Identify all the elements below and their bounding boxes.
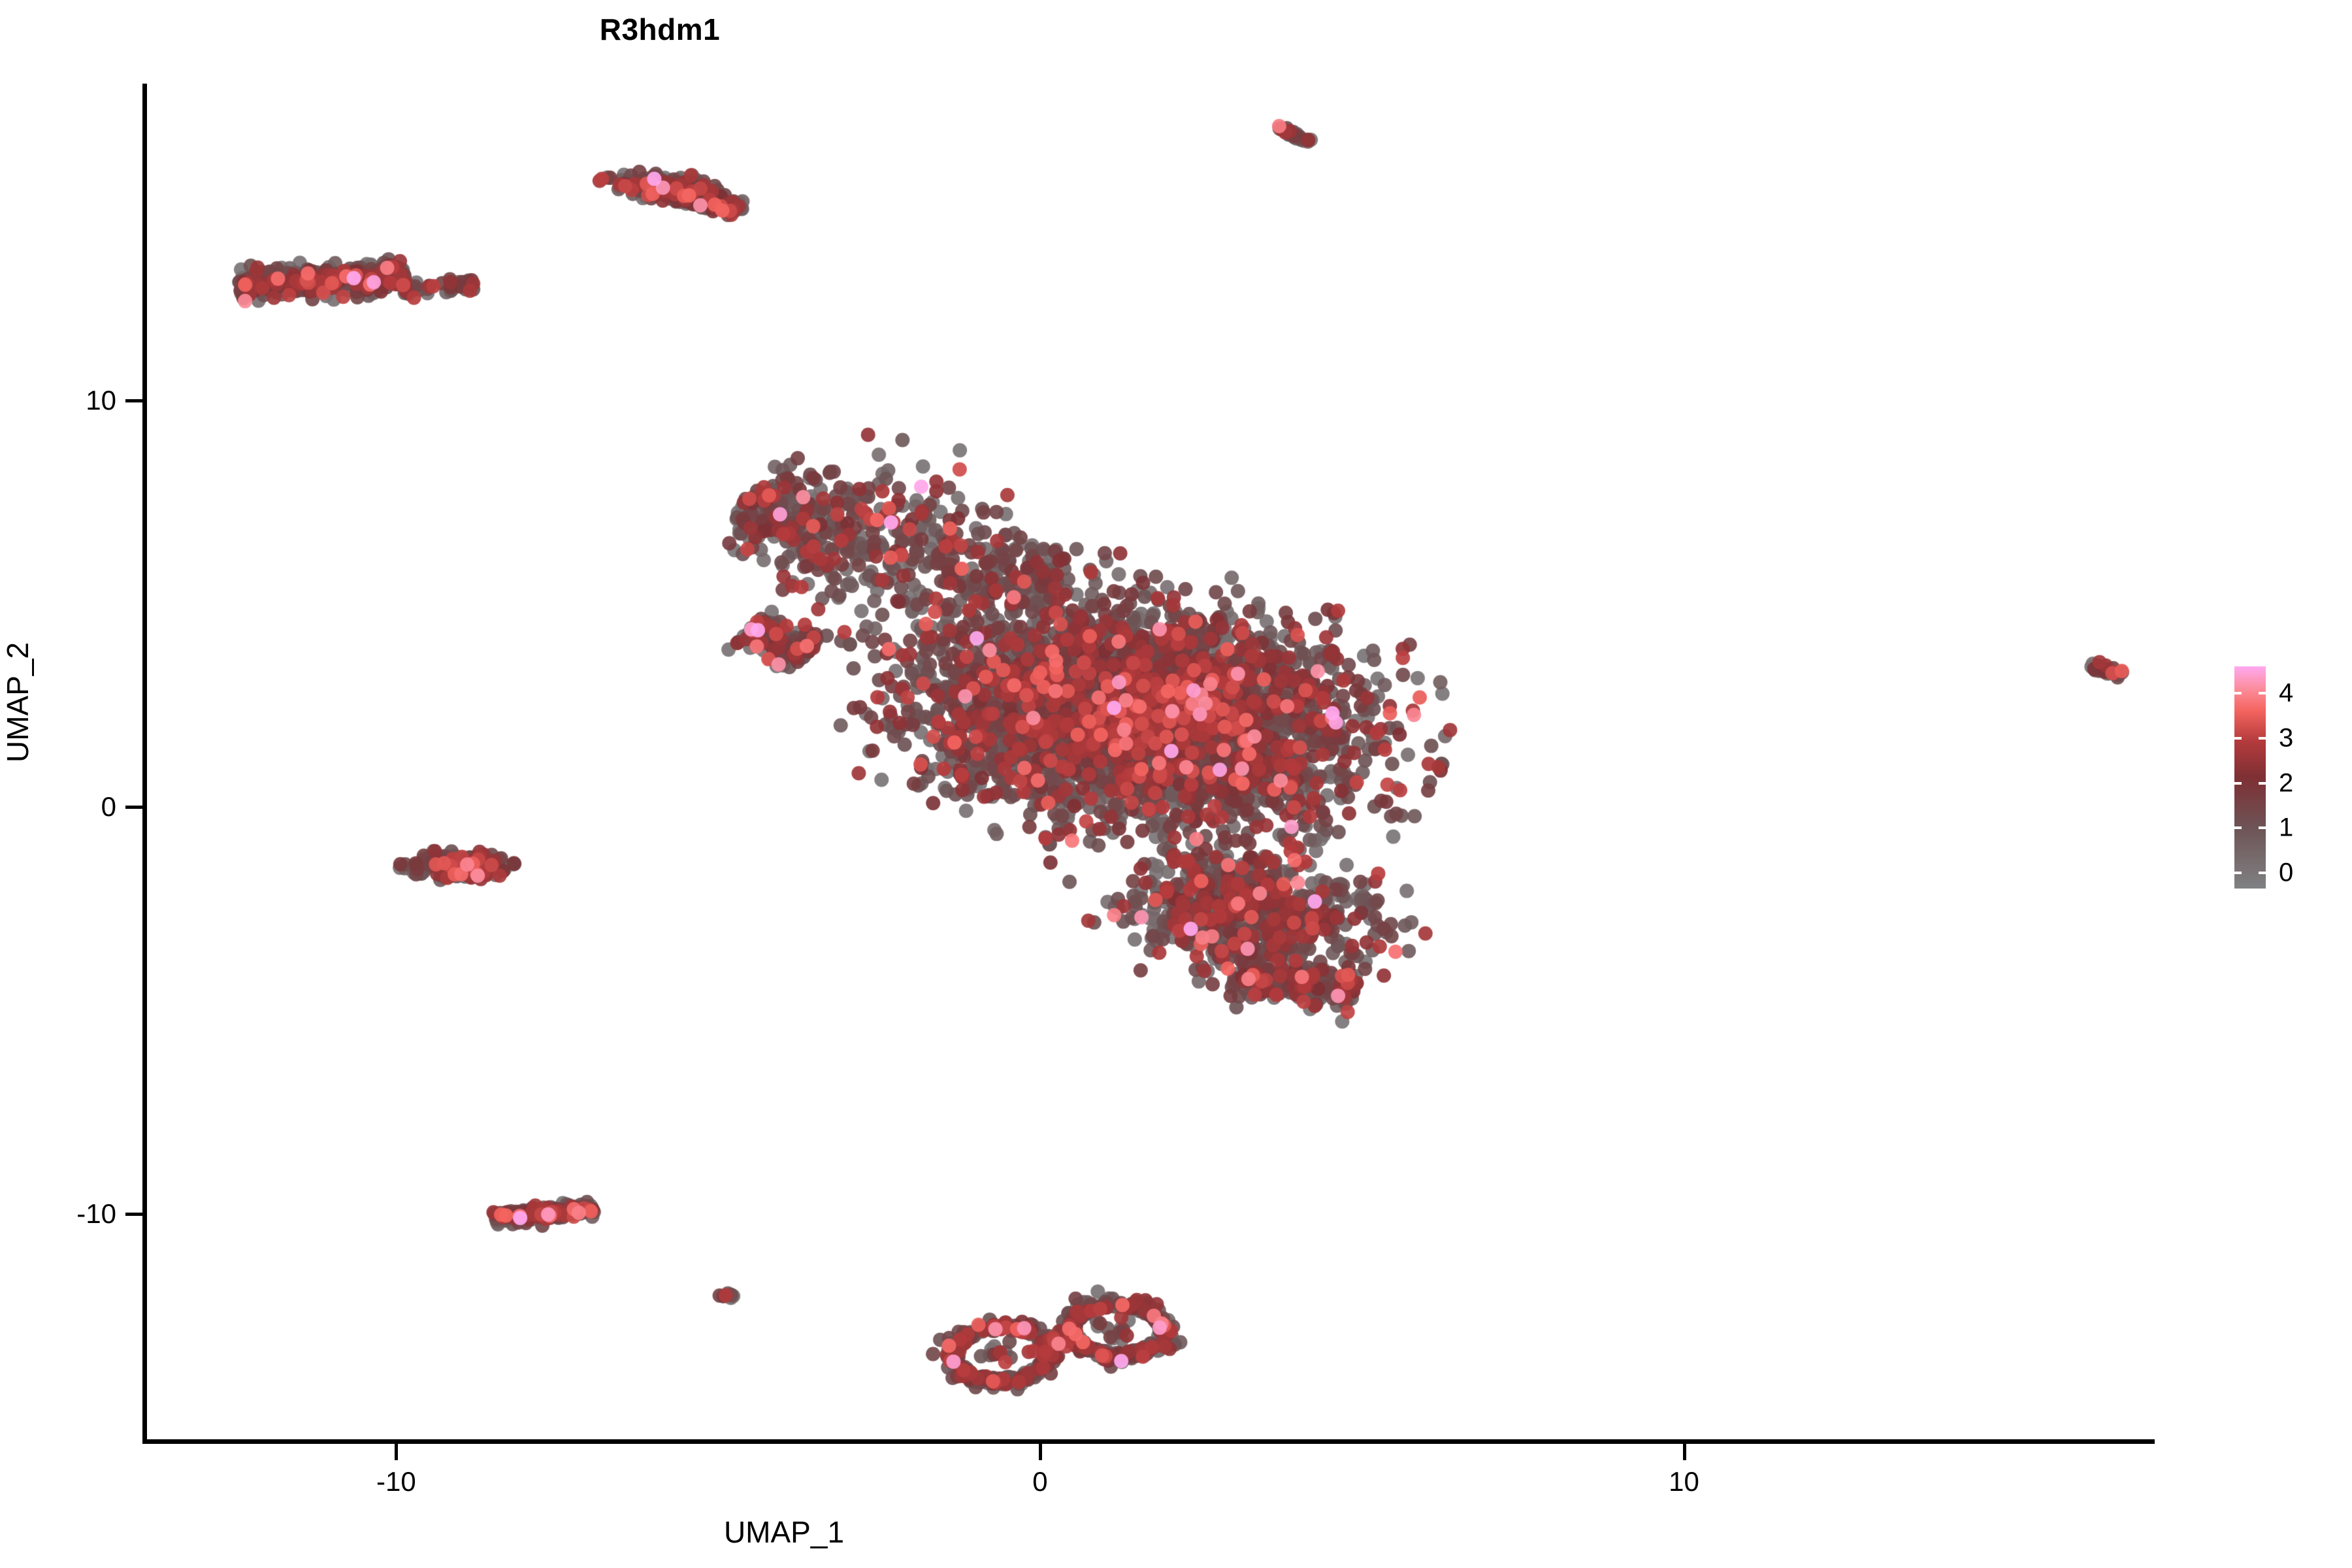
legend-tick-label: 0 <box>2279 858 2293 887</box>
legend-tick-mark <box>2259 872 2266 874</box>
y-tick-label: 10 <box>86 385 116 416</box>
x-tick-label: -10 <box>376 1466 416 1497</box>
y-tick-label: -10 <box>76 1198 116 1230</box>
x-tick-mark <box>1039 1443 1042 1460</box>
x-tick-mark <box>1683 1443 1686 1460</box>
page-title: R3hdm1 <box>0 12 1836 47</box>
feature-plot-root: R3hdm1 -10010 -10010 UMAP_1 UMAP_2 01234 <box>0 0 2352 1568</box>
legend-tick-mark <box>2234 737 2242 740</box>
legend-tick-label: 3 <box>2279 723 2293 753</box>
legend-tick-mark <box>2259 782 2266 785</box>
x-axis-line <box>142 1439 2155 1444</box>
legend-tick-mark <box>2234 872 2242 874</box>
y-tick-label: 0 <box>101 791 116 823</box>
legend-tick-mark <box>2234 782 2242 785</box>
color-legend-bar <box>2234 666 2266 889</box>
x-tick-mark <box>395 1443 398 1460</box>
y-axis-title: UMAP_2 <box>0 642 35 762</box>
legend-tick-mark <box>2259 737 2266 740</box>
color-legend: 01234 <box>2234 666 2339 902</box>
y-tick-mark <box>125 399 142 402</box>
legend-tick-mark <box>2234 692 2242 694</box>
y-axis-line <box>142 84 147 1444</box>
y-tick-mark <box>125 806 142 809</box>
scatter-canvas <box>145 84 2154 1441</box>
legend-tick-label: 4 <box>2279 679 2293 708</box>
scatter-panel <box>145 84 2154 1441</box>
legend-tick-label: 2 <box>2279 768 2293 798</box>
x-tick-label: 10 <box>1669 1466 1699 1497</box>
legend-tick-mark <box>2259 692 2266 694</box>
x-tick-label: 0 <box>1032 1466 1047 1497</box>
x-axis-title: UMAP_1 <box>0 1514 1790 1550</box>
legend-tick-label: 1 <box>2279 813 2293 843</box>
legend-tick-mark <box>2234 826 2242 829</box>
y-tick-mark <box>125 1213 142 1216</box>
legend-tick-mark <box>2259 826 2266 829</box>
